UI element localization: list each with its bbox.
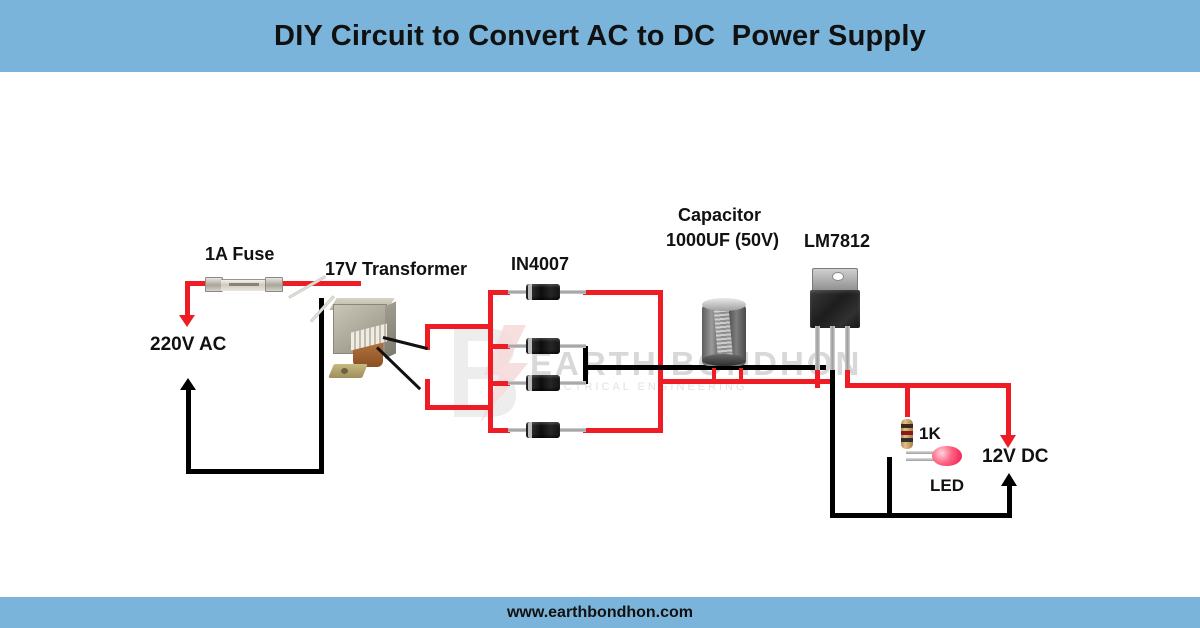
- wire-bridge-in-d3: [488, 381, 510, 386]
- diode-4-body: [526, 422, 560, 438]
- wire-capacitor-positive-lead: [739, 368, 743, 382]
- component-diode-3: [508, 375, 586, 391]
- component-diode-1: [508, 284, 586, 300]
- diode-3-body: [526, 375, 560, 391]
- regulator-mount-hole: [832, 272, 844, 281]
- component-regulator: [808, 268, 862, 383]
- wire-ac-neutral-bottom: [186, 469, 324, 474]
- arrow-ac-neutral: [180, 378, 196, 390]
- led-dome: [932, 446, 962, 466]
- fuse-cap-right: [265, 277, 283, 292]
- transformer-mount-hole: [341, 368, 348, 374]
- wire-resistor-top: [905, 383, 910, 417]
- regulator-leg-output: [845, 326, 850, 370]
- fuse-element: [229, 283, 259, 286]
- wire-output-positive: [1006, 383, 1011, 437]
- wire-ground-return-bus: [830, 513, 1012, 518]
- diode-2-lead-right: [560, 344, 586, 348]
- component-fuse: [205, 277, 283, 292]
- label-ac-input: 220V AC: [150, 334, 226, 356]
- wire-secondary-lower: [425, 405, 493, 410]
- regulator-body: [810, 290, 860, 328]
- wire-bridge-left-lower-bus: [488, 381, 493, 433]
- label-led: LED: [930, 476, 964, 496]
- component-led: [906, 446, 962, 466]
- diode-1-body: [526, 284, 560, 300]
- capacitor-top: [702, 298, 746, 311]
- label-regulator: LM7812: [804, 231, 870, 252]
- component-capacitor: [702, 298, 746, 370]
- wire-secondary-upper: [425, 324, 493, 329]
- regulator-leg-input: [815, 326, 820, 370]
- wire-secondary-lower-rise: [425, 379, 430, 410]
- arrow-ac-live: [179, 315, 195, 327]
- wire-bridge-in-d4: [488, 428, 510, 433]
- regulator-leg-ground: [830, 326, 835, 370]
- footer-band: www.earthbondhon.com: [0, 597, 1200, 628]
- wire-positive-rail: [658, 379, 830, 384]
- led-cathode-lead: [906, 458, 934, 461]
- wire-bridge-in-d1: [488, 290, 510, 295]
- transformer-primary-lead-a: [288, 275, 326, 299]
- transformer-secondary-lead-b: [376, 346, 421, 390]
- component-diode-4: [508, 422, 586, 438]
- diode-3-cathode-band: [528, 375, 532, 391]
- led-anode-lead: [906, 451, 934, 454]
- wire-ac-live-vertical: [185, 281, 190, 317]
- label-transformer: 17V Transformer: [325, 259, 467, 280]
- wire-led-cathode: [887, 457, 892, 517]
- label-diodes: IN4007: [511, 254, 569, 275]
- wire-ac-neutral-vertical: [186, 390, 191, 474]
- footer-url: www.earthbondhon.com: [507, 604, 693, 622]
- wire-capacitor-negative-lead: [712, 368, 716, 382]
- resistor-band-1: [901, 424, 913, 428]
- poster-root: DIY Circuit to Convert AC to DC Power Su…: [0, 0, 1200, 628]
- component-transformer: [327, 294, 399, 384]
- resistor-band-2: [901, 431, 913, 435]
- wire-d4-out: [583, 428, 663, 433]
- diode-2-body: [526, 338, 560, 354]
- circuit-diagram: EARTH BONDHON ELECTRICAL ENGINEERING: [0, 72, 1200, 597]
- diode-4-cathode-band: [528, 422, 532, 438]
- diode-2-cathode-band: [528, 338, 532, 354]
- wire-bridge-in-d2: [488, 344, 510, 349]
- component-diode-2: [508, 338, 586, 354]
- wire-regulator-ground-leg: [830, 365, 835, 517]
- diode-1-lead-right: [560, 290, 586, 294]
- diode-1-cathode-band: [528, 284, 532, 300]
- label-capacitor-value: 1000UF (50V): [666, 230, 779, 251]
- header-band: DIY Circuit to Convert AC to DC Power Su…: [0, 0, 1200, 72]
- transformer-mount-bracket: [328, 364, 368, 378]
- page-title: DIY Circuit to Convert AC to DC Power Su…: [274, 20, 926, 53]
- capacitor-bottom: [702, 354, 746, 366]
- label-resistor: 1K: [919, 424, 941, 444]
- wire-positive-bus: [658, 290, 663, 433]
- diode-4-lead-right: [560, 428, 586, 432]
- resistor-band-3: [901, 438, 913, 442]
- wire-ac-neutral-up: [319, 298, 324, 474]
- label-capacitor-title: Capacitor: [678, 205, 761, 226]
- diode-3-lead-right: [560, 381, 586, 385]
- arrow-dc-return: [1001, 473, 1017, 486]
- label-dc-output: 12V DC: [982, 446, 1049, 468]
- label-fuse: 1A Fuse: [205, 244, 274, 265]
- wire-d1-out: [583, 290, 663, 295]
- wire-regulator-output-rail: [845, 383, 1011, 388]
